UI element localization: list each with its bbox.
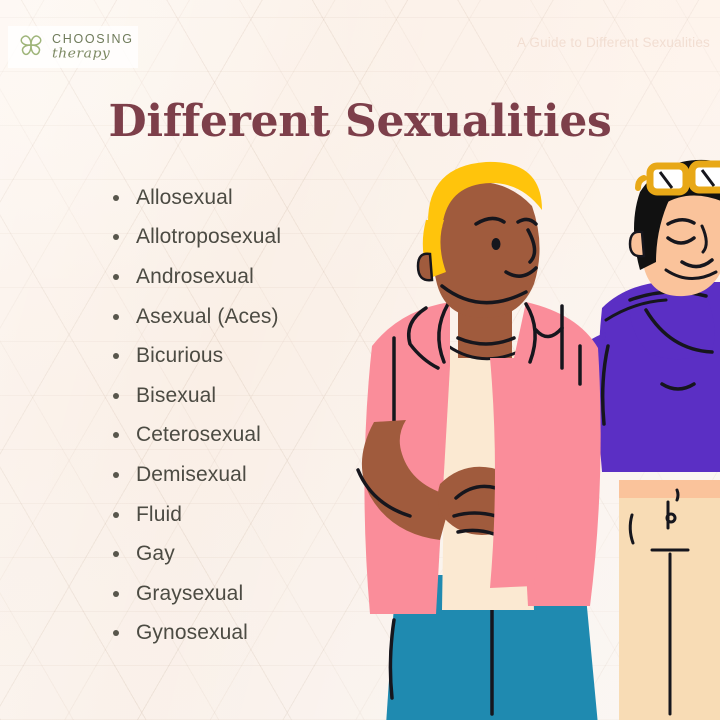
list-item: Asexual (Aces): [113, 297, 281, 337]
list-item-label: Gay: [136, 542, 175, 566]
list-item: Ceterosexual: [113, 416, 281, 456]
bullet-icon: [113, 630, 119, 636]
list-item-label: Bisexual: [136, 384, 216, 408]
bullet-icon: [113, 314, 119, 320]
header-tagline: A Guide to Different Sexualities: [517, 35, 710, 50]
sexualities-list: AllosexualAllotroposexualAndrosexualAsex…: [113, 178, 281, 653]
sunglasses-icon: [638, 164, 720, 192]
list-item-label: Androsexual: [136, 265, 254, 289]
list-item: Graysexual: [113, 574, 281, 614]
bullet-icon: [113, 234, 119, 240]
logo-wordmark-primary: CHOOSING: [52, 33, 134, 46]
bullet-icon: [113, 472, 119, 478]
bullet-icon: [113, 432, 119, 438]
brand-logo[interactable]: CHOOSING therapy: [8, 26, 138, 68]
list-item-label: Graysexual: [136, 582, 243, 606]
bullet-icon: [113, 274, 119, 280]
list-item-label: Ceterosexual: [136, 423, 261, 447]
list-item-label: Demisexual: [136, 463, 247, 487]
bullet-icon: [113, 551, 119, 557]
list-item: Gynosexual: [113, 614, 281, 654]
bullet-icon: [113, 393, 119, 399]
bullet-icon: [113, 512, 119, 518]
bullet-icon: [113, 591, 119, 597]
list-item-label: Allosexual: [136, 186, 233, 210]
list-item-label: Fluid: [136, 503, 182, 527]
list-item-label: Gynosexual: [136, 621, 248, 645]
list-item-label: Asexual (Aces): [136, 305, 279, 329]
list-item: Allosexual: [113, 178, 281, 218]
page-title: Different Sexualities: [0, 96, 720, 147]
two-people-illustration: [330, 150, 720, 720]
list-item: Fluid: [113, 495, 281, 535]
bullet-icon: [113, 195, 119, 201]
list-item: Bisexual: [113, 376, 281, 416]
list-item-label: Allotroposexual: [136, 225, 281, 249]
list-item: Allotroposexual: [113, 218, 281, 258]
list-item: Androsexual: [113, 257, 281, 297]
list-item: Demisexual: [113, 455, 281, 495]
leaf-plant-icon: [16, 31, 46, 64]
logo-wordmark-secondary: therapy: [52, 47, 134, 60]
list-item: Bicurious: [113, 336, 281, 376]
list-item: Gay: [113, 534, 281, 574]
bullet-icon: [113, 353, 119, 359]
list-item-label: Bicurious: [136, 344, 223, 368]
